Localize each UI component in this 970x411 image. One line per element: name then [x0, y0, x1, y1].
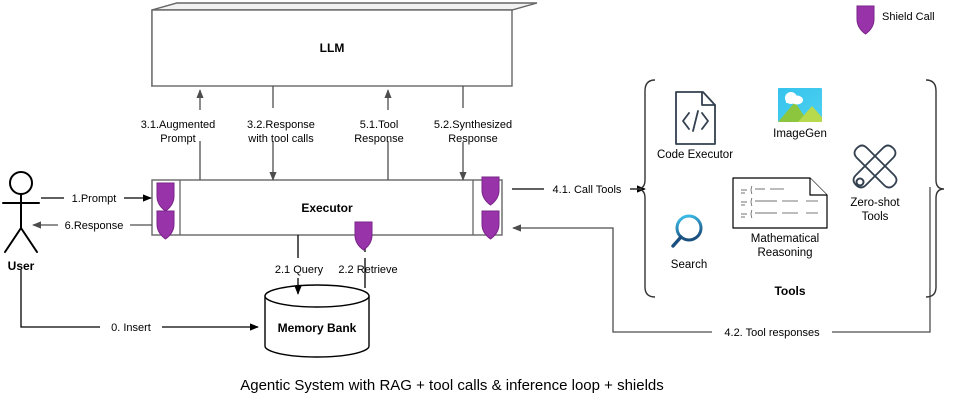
- edge-tool-response: 5.1.Tool Response: [354, 90, 404, 180]
- legend-label-shield-call: Shield Call: [882, 11, 935, 23]
- tool-label-code-executor: Code Executor: [657, 149, 733, 161]
- magnifier-icon: [673, 216, 701, 246]
- formula-document-icon: [733, 178, 827, 228]
- edge-label-prompt: 1.Prompt: [72, 193, 117, 205]
- tool-mathematical-reasoning: Mathematical Reasoning: [733, 178, 827, 259]
- legend-shield-call: Shield Call: [857, 6, 935, 34]
- image-icon: [778, 88, 826, 122]
- edge-label-augmented-prompt-line2: Prompt: [160, 133, 195, 145]
- tool-label-zero-shot-line1: Zero-shot: [850, 197, 900, 209]
- edge-label-response-tool-calls-line1: 3.2.Response: [247, 119, 315, 131]
- tool-label-mathematical-reasoning-line2: Reasoning: [758, 247, 813, 259]
- edge-augmented-prompt: 3.1.Augmented Prompt: [141, 90, 216, 180]
- diagram-caption: Agentic System with RAG + tool calls & i…: [240, 377, 664, 394]
- edge-label-query: 2.1 Query: [275, 264, 324, 276]
- tool-label-imagegen: ImageGen: [773, 128, 827, 140]
- tool-label-mathematical-reasoning-line1: Mathematical: [751, 233, 819, 245]
- edge-label-retrieve: 2.2 Retrieve: [338, 264, 397, 276]
- crossed-tools-icon: [854, 146, 897, 188]
- edge-label-response: 6.Response: [65, 220, 124, 232]
- tools-group-label: Tools: [774, 284, 805, 298]
- edge-label-tool-response-line1: 5.1.Tool: [360, 119, 399, 131]
- edge-tool-responses: 4.2. Tool responses: [513, 187, 930, 339]
- edge-label-response-tool-calls-line2: with tool calls: [247, 133, 314, 145]
- tool-label-zero-shot-line2: Tools: [862, 211, 889, 223]
- shield-icon: [857, 6, 874, 34]
- memory-bank-label: Memory Bank: [278, 321, 357, 335]
- tool-imagegen: ImageGen: [773, 88, 827, 140]
- edge-label-synthesized-response-line2: Response: [448, 133, 498, 145]
- edge-call-tools: 4.1. Call Tools: [512, 182, 645, 196]
- edge-label-call-tools: 4.1. Call Tools: [553, 184, 622, 196]
- edge-label-tool-response-line2: Response: [354, 133, 404, 145]
- edge-label-augmented-prompt-line1: 3.1.Augmented: [141, 119, 216, 131]
- edge-label-insert: 0. Insert: [111, 322, 151, 334]
- memory-bank-node: Memory Bank: [265, 285, 369, 357]
- edge-prompt: 1.Prompt: [41, 191, 151, 205]
- edge-label-synthesized-response-line1: 5.2.Synthesized: [434, 119, 512, 131]
- edge-response-with-tool-calls: 3.2.Response with tool calls: [247, 86, 315, 180]
- executor-node: Executor: [152, 180, 502, 235]
- tool-zero-shot-tools: Zero-shot Tools: [850, 146, 900, 224]
- executor-shield-memory: [355, 222, 372, 250]
- agentic-system-diagram: LLM Executor Memory Bank User 3.1.Augmen…: [0, 0, 970, 411]
- edge-insert: 0. Insert: [21, 270, 258, 334]
- llm-label: LLM: [320, 41, 345, 55]
- edge-response: 6.Response: [33, 218, 152, 232]
- llm-node: LLM: [152, 3, 537, 86]
- executor-label: Executor: [301, 201, 353, 215]
- tool-label-search: Search: [671, 259, 707, 271]
- edge-synthesized-response: 5.2.Synthesized Response: [434, 86, 512, 180]
- tool-search: Search: [671, 216, 707, 271]
- edge-label-tool-responses: 4.2. Tool responses: [724, 327, 820, 339]
- user-actor: User: [3, 172, 39, 273]
- tool-code-executor: Code Executor: [657, 92, 733, 161]
- code-document-icon: [676, 92, 715, 144]
